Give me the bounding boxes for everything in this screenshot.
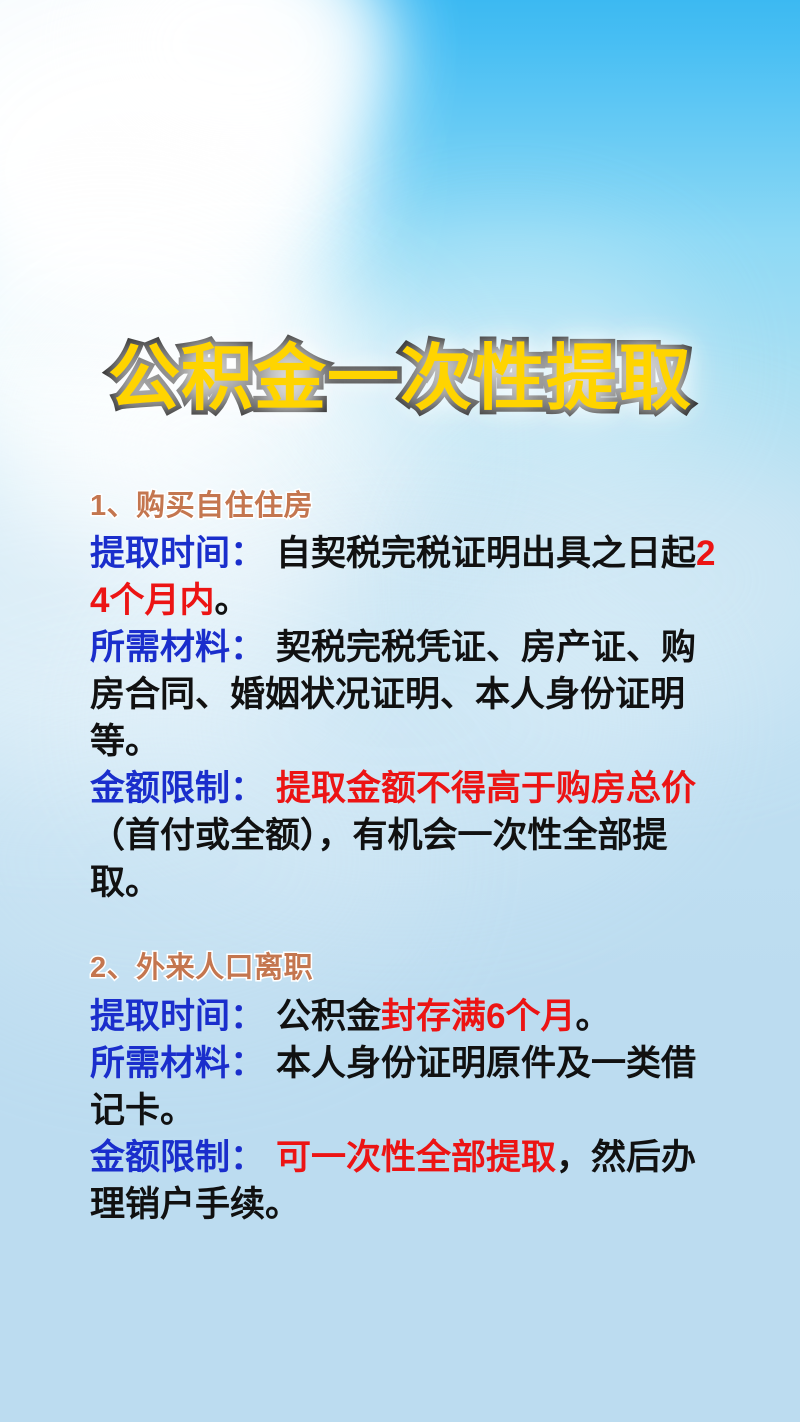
row-label: 提取时间： <box>90 534 265 573</box>
info-section: 2、外来人口离职提取时间：公积金封存满6个月。所需材料：本人身份证明原件及一类借… <box>90 950 720 1227</box>
info-row: 金额限制：提取金额不得高于购房总价（首付或全额），有机会一次性全部提取。 <box>90 765 720 906</box>
body-text: 自契税完税证明出具之日起 <box>276 534 696 573</box>
page-title: 公积金一次性提取 <box>108 340 692 419</box>
poster-canvas: 公积金一次性提取 1、购买自住住房提取时间：自契税完税证明出具之日起24个月内。… <box>0 0 800 1422</box>
content-body: 1、购买自住住房提取时间：自契税完税证明出具之日起24个月内。所需材料：契税完税… <box>90 488 720 1228</box>
title-area: 公积金一次性提取 <box>0 292 800 468</box>
info-row: 金额限制：可一次性全部提取，然后办理销户手续。 <box>90 1134 720 1228</box>
info-row: 所需材料：契税完税凭证、房产证、购房合同、婚姻状况证明、本人身份证明等。 <box>90 624 720 765</box>
section-heading: 2、外来人口离职 <box>90 950 720 986</box>
row-label: 所需材料： <box>90 628 265 667</box>
row-label: 金额限制： <box>90 769 265 808</box>
highlight-text: 提取金额不得高于购房总价 <box>276 769 696 808</box>
highlight-text: 封存满6个月 <box>381 997 575 1036</box>
info-section: 1、购买自住住房提取时间：自契税完税证明出具之日起24个月内。所需材料：契税完税… <box>90 488 720 906</box>
body-text: 。 <box>576 997 611 1036</box>
row-label: 所需材料： <box>90 1044 265 1083</box>
cloud-shape <box>0 20 360 320</box>
cloud-shape <box>90 0 390 160</box>
row-label: 提取时间： <box>90 997 265 1036</box>
row-label: 金额限制： <box>90 1138 265 1177</box>
body-text: （首付或全额），有机会一次性全部提取。 <box>90 816 668 902</box>
info-row: 提取时间：公积金封存满6个月。 <box>90 993 720 1040</box>
body-text: 公积金 <box>276 997 381 1036</box>
section-heading: 1、购买自住住房 <box>90 488 720 524</box>
cloud-shape <box>0 0 360 250</box>
body-text: 。 <box>214 581 249 620</box>
highlight-text: 可一次性全部提取 <box>276 1138 556 1177</box>
info-row: 提取时间：自契税完税证明出具之日起24个月内。 <box>90 530 720 624</box>
info-row: 所需材料：本人身份证明原件及一类借记卡。 <box>90 1040 720 1134</box>
